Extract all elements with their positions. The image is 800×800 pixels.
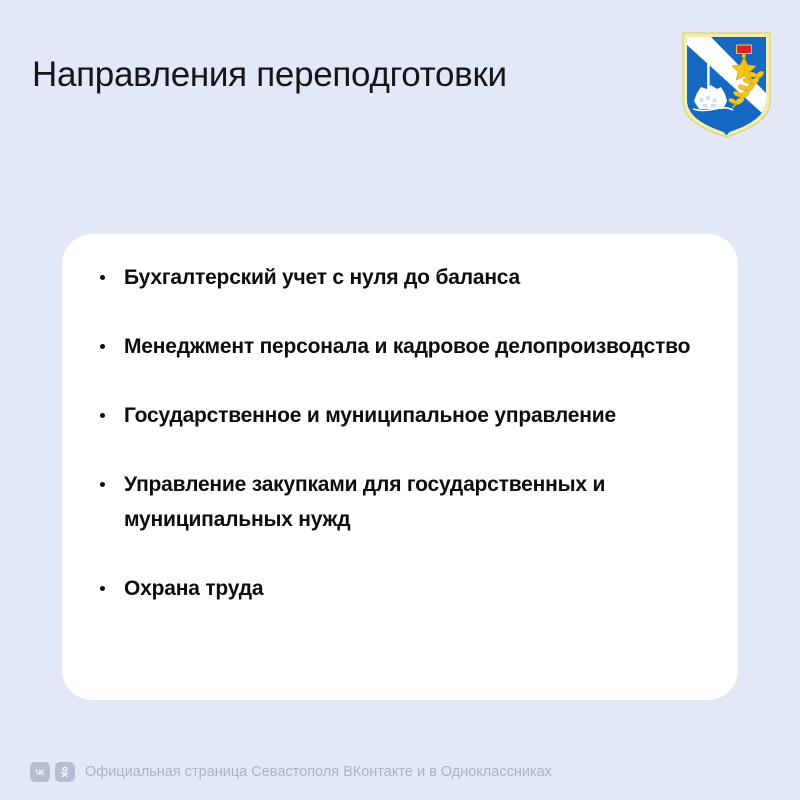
bullet-dot-icon [100, 275, 105, 280]
bullet-dot-icon [100, 482, 105, 487]
list-item: Менеджмент персонала и кадровое делопрои… [100, 329, 728, 364]
list-item: Бухгалтерский учет с нуля до баланса [100, 260, 728, 295]
footer: Официальная страница Севастополя ВКонтак… [30, 760, 552, 784]
list-item: Государственное и муниципальное управлен… [100, 398, 728, 433]
ok-icon[interactable] [55, 762, 75, 782]
list-item-label: Управление закупками для государственных… [124, 467, 728, 537]
bullet-dot-icon [100, 413, 105, 418]
directions-list: Бухгалтерский учет с нуля до баланса Мен… [100, 260, 728, 606]
list-item-label: Государственное и муниципальное управлен… [124, 398, 728, 433]
list-item-label: Бухгалтерский учет с нуля до баланса [124, 260, 728, 295]
page-title: Направления переподготовки [32, 54, 507, 96]
list-item: Управление закупками для государственных… [100, 467, 728, 537]
list-item: Охрана труда [100, 571, 728, 606]
list-item-label: Охрана труда [124, 571, 728, 606]
slide-root: Направления переподготовки [0, 0, 800, 800]
coat-of-arms-sevastopol [681, 31, 772, 139]
bullet-dot-icon [100, 586, 105, 591]
list-item-label: Менеджмент персонала и кадровое делопрои… [124, 329, 728, 364]
header: Направления переподготовки [0, 0, 800, 170]
content-card: Бухгалтерский учет с нуля до баланса Мен… [62, 234, 738, 700]
vk-icon[interactable] [30, 762, 50, 782]
footer-label: Официальная страница Севастополя ВКонтак… [85, 762, 552, 782]
bullet-dot-icon [100, 344, 105, 349]
